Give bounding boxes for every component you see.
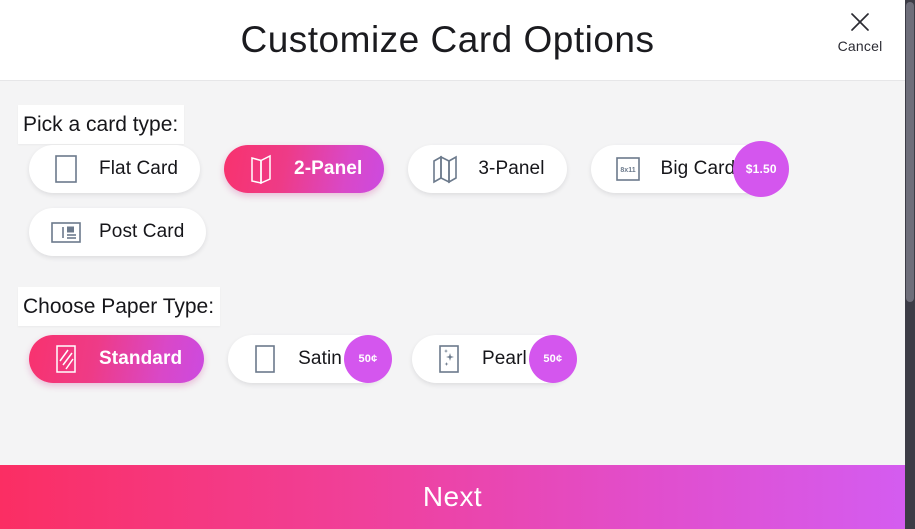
- header-bar: Customize Card Options Cancel: [0, 0, 915, 80]
- pearl-paper-icon: [432, 342, 466, 376]
- paper-type-option-label: Satin: [298, 348, 342, 370]
- flat-card-icon: [49, 152, 83, 186]
- paper-type-section-label: Choose Paper Type:: [18, 287, 220, 326]
- big-card-icon: 8x11: [611, 152, 645, 186]
- paper-type-option-pearl[interactable]: Pearl 50¢: [412, 335, 573, 383]
- close-icon[interactable]: [846, 8, 874, 36]
- vertical-scrollbar-thumb[interactable]: [906, 2, 914, 302]
- vertical-scrollbar-track[interactable]: [905, 0, 915, 529]
- card-type-option-label: Post Card: [99, 221, 184, 243]
- big-card-icon-size-text: 8x11: [620, 167, 635, 174]
- price-badge: 50¢: [344, 335, 392, 383]
- next-button[interactable]: Next: [0, 465, 905, 529]
- card-type-option-big-card[interactable]: 8x11 Big Card $1.50: [591, 145, 782, 193]
- standard-paper-icon: [49, 342, 83, 376]
- paper-type-option-label: Pearl: [482, 348, 527, 370]
- satin-paper-icon: [248, 342, 282, 376]
- cancel-label: Cancel: [838, 38, 883, 54]
- paper-type-option-standard[interactable]: Standard: [29, 335, 204, 383]
- cancel-button[interactable]: Cancel: [823, 8, 897, 54]
- paper-type-option-label: Standard: [99, 348, 182, 370]
- card-type-section-label: Pick a card type:: [18, 105, 184, 144]
- price-badge: $1.50: [733, 141, 789, 197]
- post-card-icon: [49, 215, 83, 249]
- page-title: Customize Card Options: [0, 0, 915, 80]
- price-badge: 50¢: [529, 335, 577, 383]
- options-scroll-area: Pick a card type: Flat Card 2-P: [0, 81, 905, 465]
- card-type-option-flat-card[interactable]: Flat Card: [29, 145, 200, 193]
- card-type-options-row-1: Flat Card 2-Panel: [29, 145, 805, 193]
- two-panel-icon: [244, 152, 278, 186]
- card-type-option-2-panel[interactable]: 2-Panel: [224, 145, 384, 193]
- three-panel-icon: [428, 152, 462, 186]
- card-type-option-label: Big Card: [661, 158, 736, 180]
- card-type-options-row-2: Post Card: [29, 208, 230, 256]
- paper-type-options-row: Standard Satin 50¢: [29, 335, 597, 383]
- card-type-option-post-card[interactable]: Post Card: [29, 208, 206, 256]
- card-type-option-label: Flat Card: [99, 158, 178, 180]
- card-type-option-3-panel[interactable]: 3-Panel: [408, 145, 566, 193]
- card-type-option-label: 3-Panel: [478, 158, 544, 180]
- customize-card-options-screen: Customize Card Options Cancel Pick a car…: [0, 0, 915, 529]
- paper-type-option-satin[interactable]: Satin 50¢: [228, 335, 388, 383]
- card-type-option-label: 2-Panel: [294, 158, 362, 180]
